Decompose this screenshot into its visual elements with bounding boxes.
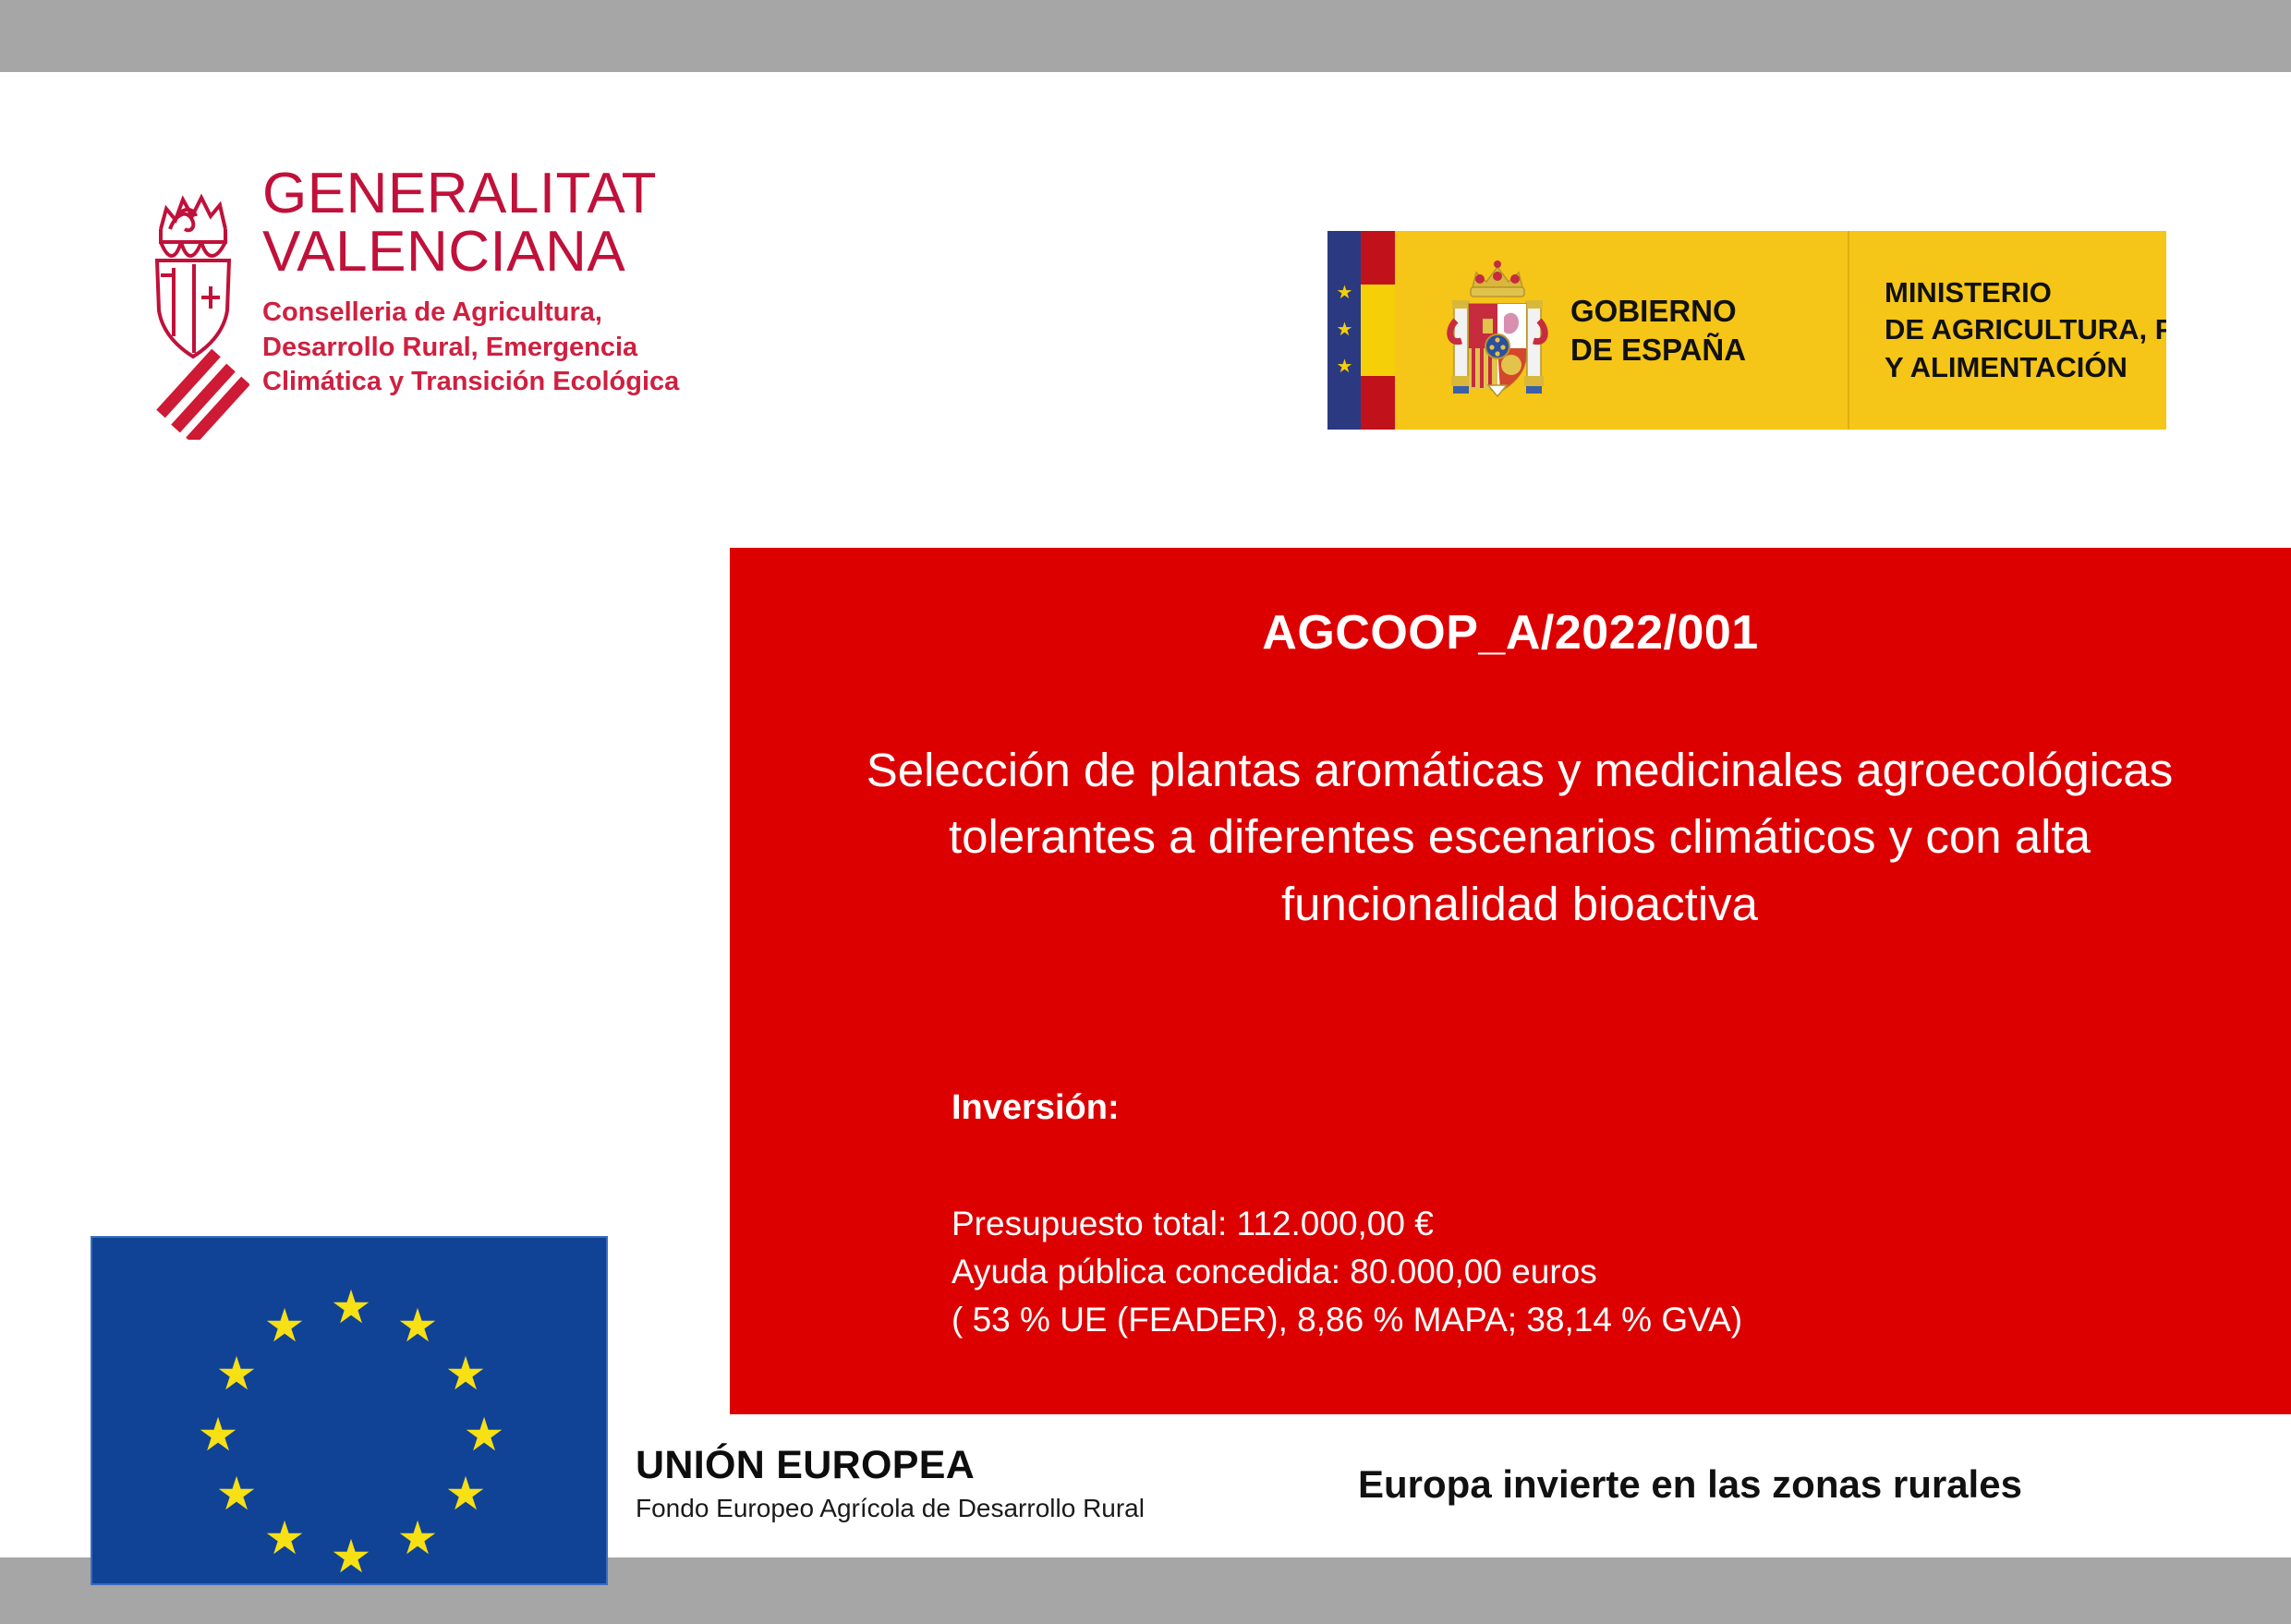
eu-star-icon: ★ bbox=[215, 1473, 258, 1515]
investment-aid-line: Ayuda pública concedida: 80.000,00 euros bbox=[952, 1248, 1742, 1296]
gobierno-wordmark: GOBIERNO DE ESPAÑA bbox=[1570, 292, 1746, 369]
ministerio-line3: Y ALIMENTACIÓN bbox=[1885, 349, 2166, 386]
eu-star-icon: ★ bbox=[330, 1286, 372, 1328]
spain-red-stripe-bottom bbox=[1361, 376, 1395, 430]
eu-star-icon: ★ bbox=[263, 1304, 306, 1347]
investment-breakdown-line: ( 53 % UE (FEADER), 8,86 % MAPA; 38,14 %… bbox=[952, 1296, 1742, 1344]
eu-star-icon: ★ bbox=[1336, 285, 1353, 302]
poster-canvas: GENERALITAT VALENCIANA Conselleria de Ag… bbox=[0, 72, 2291, 1557]
eu-caption-title: UNIÓN EUROPEA bbox=[636, 1443, 1190, 1488]
spain-yellow-stripe bbox=[1361, 285, 1395, 376]
top-frame-band bbox=[0, 0, 2291, 72]
investment-label: Inversión: bbox=[952, 1088, 1742, 1128]
ministerio-wordmark: MINISTERIO DE AGRICULTURA, PESCA Y ALIME… bbox=[1885, 274, 2166, 386]
european-union-flag-icon: ★ ★ ★ ★ ★ ★ ★ ★ ★ ★ ★ ★ bbox=[91, 1236, 608, 1585]
gobierno-line1: GOBIERNO bbox=[1570, 292, 1746, 330]
project-code: AGCOOP_A/2022/001 bbox=[730, 605, 2291, 661]
gva-dept-line1: Conselleria de Agricultura, bbox=[262, 296, 679, 330]
investment-block: Inversión: Presupuesto total: 112.000,00… bbox=[952, 1088, 1742, 1343]
gva-title-line1: GENERALITAT bbox=[262, 164, 679, 223]
spain-red-stripe-top bbox=[1361, 231, 1395, 285]
eu-star-icon: ★ bbox=[463, 1413, 505, 1456]
eu-star-icon: ★ bbox=[396, 1517, 439, 1559]
ministerio-line1: MINISTERIO bbox=[1885, 274, 2166, 311]
gva-dept-line2: Desarrollo Rural, Emergencia bbox=[262, 331, 679, 365]
gobierno-line2: DE ESPAÑA bbox=[1570, 331, 1746, 369]
project-red-panel: AGCOOP_A/2022/001 Selección de plantas a… bbox=[730, 548, 2291, 1414]
eu-star-icon: ★ bbox=[197, 1413, 239, 1456]
gobierno-de-espana-ministry-logo: ★ ★ ★ bbox=[1327, 231, 2166, 430]
eu-star-icon: ★ bbox=[330, 1535, 372, 1578]
generalitat-valenciana-crest-icon bbox=[139, 172, 249, 440]
spain-eu-flag-strip-icon: ★ ★ ★ bbox=[1327, 231, 1395, 430]
investment-budget-line: Presupuesto total: 112.000,00 € bbox=[952, 1200, 1742, 1248]
project-title: Selección de plantas aromáticas y medici… bbox=[813, 737, 2226, 938]
gva-dept-line3: Climática y Transición Ecológica bbox=[262, 365, 679, 399]
generalitat-valenciana-logo: GENERALITAT VALENCIANA Conselleria de Ag… bbox=[139, 164, 679, 440]
eu-star-icon: ★ bbox=[1336, 358, 1353, 376]
ministerio-line2: DE AGRICULTURA, PESCA bbox=[1885, 311, 2166, 348]
generalitat-valenciana-wordmark: GENERALITAT VALENCIANA Conselleria de Ag… bbox=[262, 164, 679, 399]
eu-feader-caption: UNIÓN EUROPEA Fondo Europeo Agrícola de … bbox=[628, 1443, 1190, 1523]
eu-caption-subtitle: Fondo Europeo Agrícola de Desarrollo Rur… bbox=[636, 1494, 1190, 1523]
rural-investment-slogan: Europa invierte en las zonas rurales bbox=[1358, 1462, 2022, 1507]
eu-star-icon: ★ bbox=[215, 1352, 258, 1395]
eu-star-icon: ★ bbox=[444, 1352, 487, 1395]
ministerio-block: MINISTERIO DE AGRICULTURA, PESCA Y ALIME… bbox=[1849, 231, 2166, 430]
gobierno-block: GOBIERNO DE ESPAÑA bbox=[1395, 231, 1849, 430]
eu-star-icon: ★ bbox=[396, 1304, 439, 1347]
eu-star-icon: ★ bbox=[444, 1473, 487, 1515]
eu-star-icon: ★ bbox=[1336, 321, 1353, 339]
eu-star-icon: ★ bbox=[263, 1517, 306, 1559]
spain-coat-of-arms-icon bbox=[1443, 252, 1552, 409]
gva-title-line2: VALENCIANA bbox=[262, 223, 679, 281]
